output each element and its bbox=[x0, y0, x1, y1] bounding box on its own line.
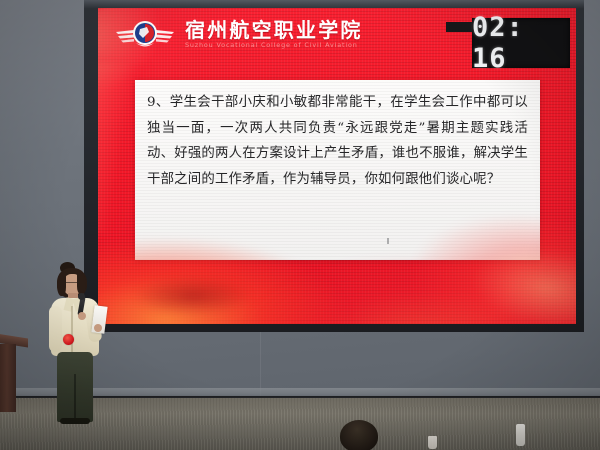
microphone-head-icon bbox=[78, 293, 85, 300]
winged-aviation-emblem-icon bbox=[114, 18, 176, 52]
presenter-speaking bbox=[44, 262, 130, 422]
school-branding-header: 宿州航空职业学院 Suzhou Vocational College of Ci… bbox=[114, 18, 363, 52]
countdown-timer-value: 02: 16 bbox=[472, 12, 570, 74]
presenter-glasses bbox=[65, 282, 80, 287]
paper-cup bbox=[428, 436, 437, 449]
presenter-trousers-seam bbox=[74, 374, 76, 422]
lecture-hall-scene: 宿州航空职业学院 Suzhou Vocational College of Ci… bbox=[0, 0, 600, 450]
red-round-badge bbox=[63, 334, 74, 345]
countdown-timer: 02: 16 bbox=[472, 18, 570, 68]
wooden-lectern bbox=[0, 336, 28, 412]
school-name-chinese: 宿州航空职业学院 bbox=[185, 20, 363, 41]
school-name-block: 宿州航空职业学院 Suzhou Vocational College of Ci… bbox=[185, 20, 363, 49]
water-bottle bbox=[516, 424, 525, 446]
led-display-screen: 宿州航空职业学院 Suzhou Vocational College of Ci… bbox=[98, 8, 576, 324]
presenter-arm-left bbox=[49, 306, 62, 352]
presenter-shirt-placket bbox=[71, 306, 73, 354]
presenter-hand-holding-paper bbox=[94, 324, 102, 332]
presenter-shoes bbox=[60, 418, 90, 424]
ribbon-graphic-bottom bbox=[98, 214, 576, 324]
audience-member-head bbox=[340, 420, 378, 450]
presenter-hand-holding-microphone bbox=[78, 312, 86, 320]
question-text: 9、学生会干部小庆和小敏都非常能干，在学生会工作中都可以独当一面，一次两人共同负… bbox=[147, 90, 528, 192]
lectern-body bbox=[0, 344, 16, 412]
school-name-english: Suzhou Vocational College of Civil Aviat… bbox=[185, 42, 363, 49]
